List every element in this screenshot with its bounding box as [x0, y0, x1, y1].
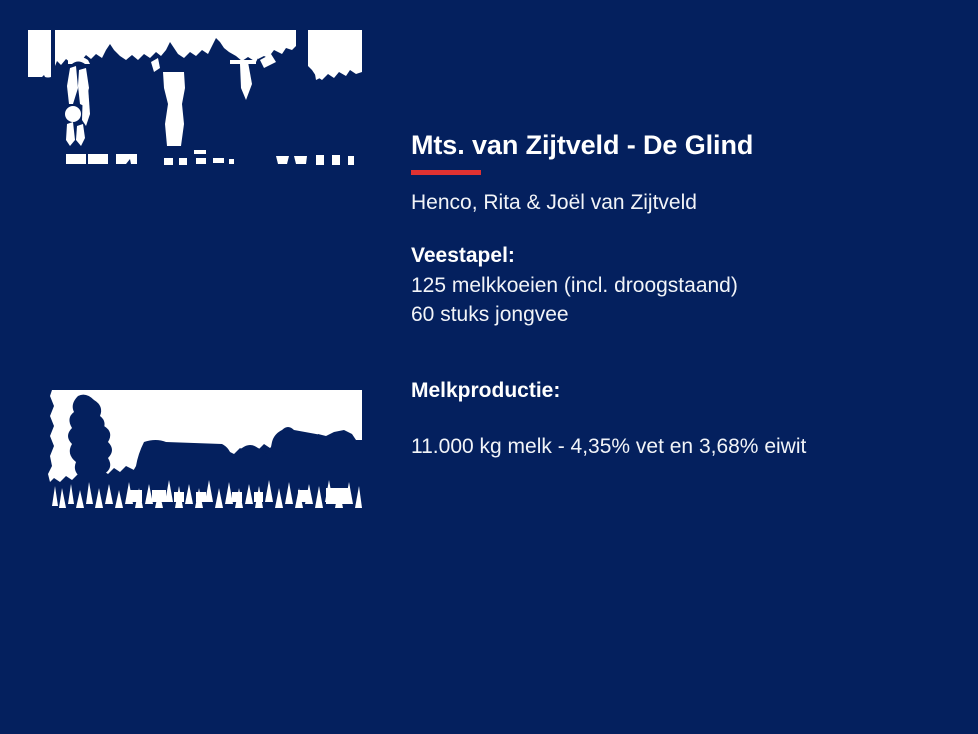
farm-info-panel: Mts. van Zijtveld - De Glind Henco, Rita…: [411, 130, 956, 461]
barn-photo: [24, 28, 372, 178]
herd-line-young-stock: 60 stuks jongvee: [411, 300, 956, 329]
title-accent-rule: [411, 170, 481, 175]
farm-profile-slide: Mts. van Zijtveld - De Glind Henco, Rita…: [0, 0, 978, 734]
barn-silhouette-icon: [24, 28, 372, 178]
production-line-yield: 11.000 kg melk - 4,35% vet en 3,68% eiwi…: [411, 432, 956, 461]
herd-label: Veestapel:: [411, 242, 956, 270]
herd-block: Veestapel: 125 melkkoeien (incl. droogst…: [411, 242, 956, 329]
production-label: Melkproductie:: [411, 377, 956, 405]
herd-line-milking-cows: 125 melkkoeien (incl. droogstaand): [411, 271, 956, 300]
page-title: Mts. van Zijtveld - De Glind: [411, 130, 956, 161]
farm-owners: Henco, Rita & Joël van Zijtveld: [411, 190, 956, 215]
production-block: Melkproductie: 11.000 kg melk - 4,35% ve…: [411, 377, 956, 461]
pasture-silhouette-icon: [26, 378, 370, 520]
pasture-photo: [26, 378, 370, 520]
